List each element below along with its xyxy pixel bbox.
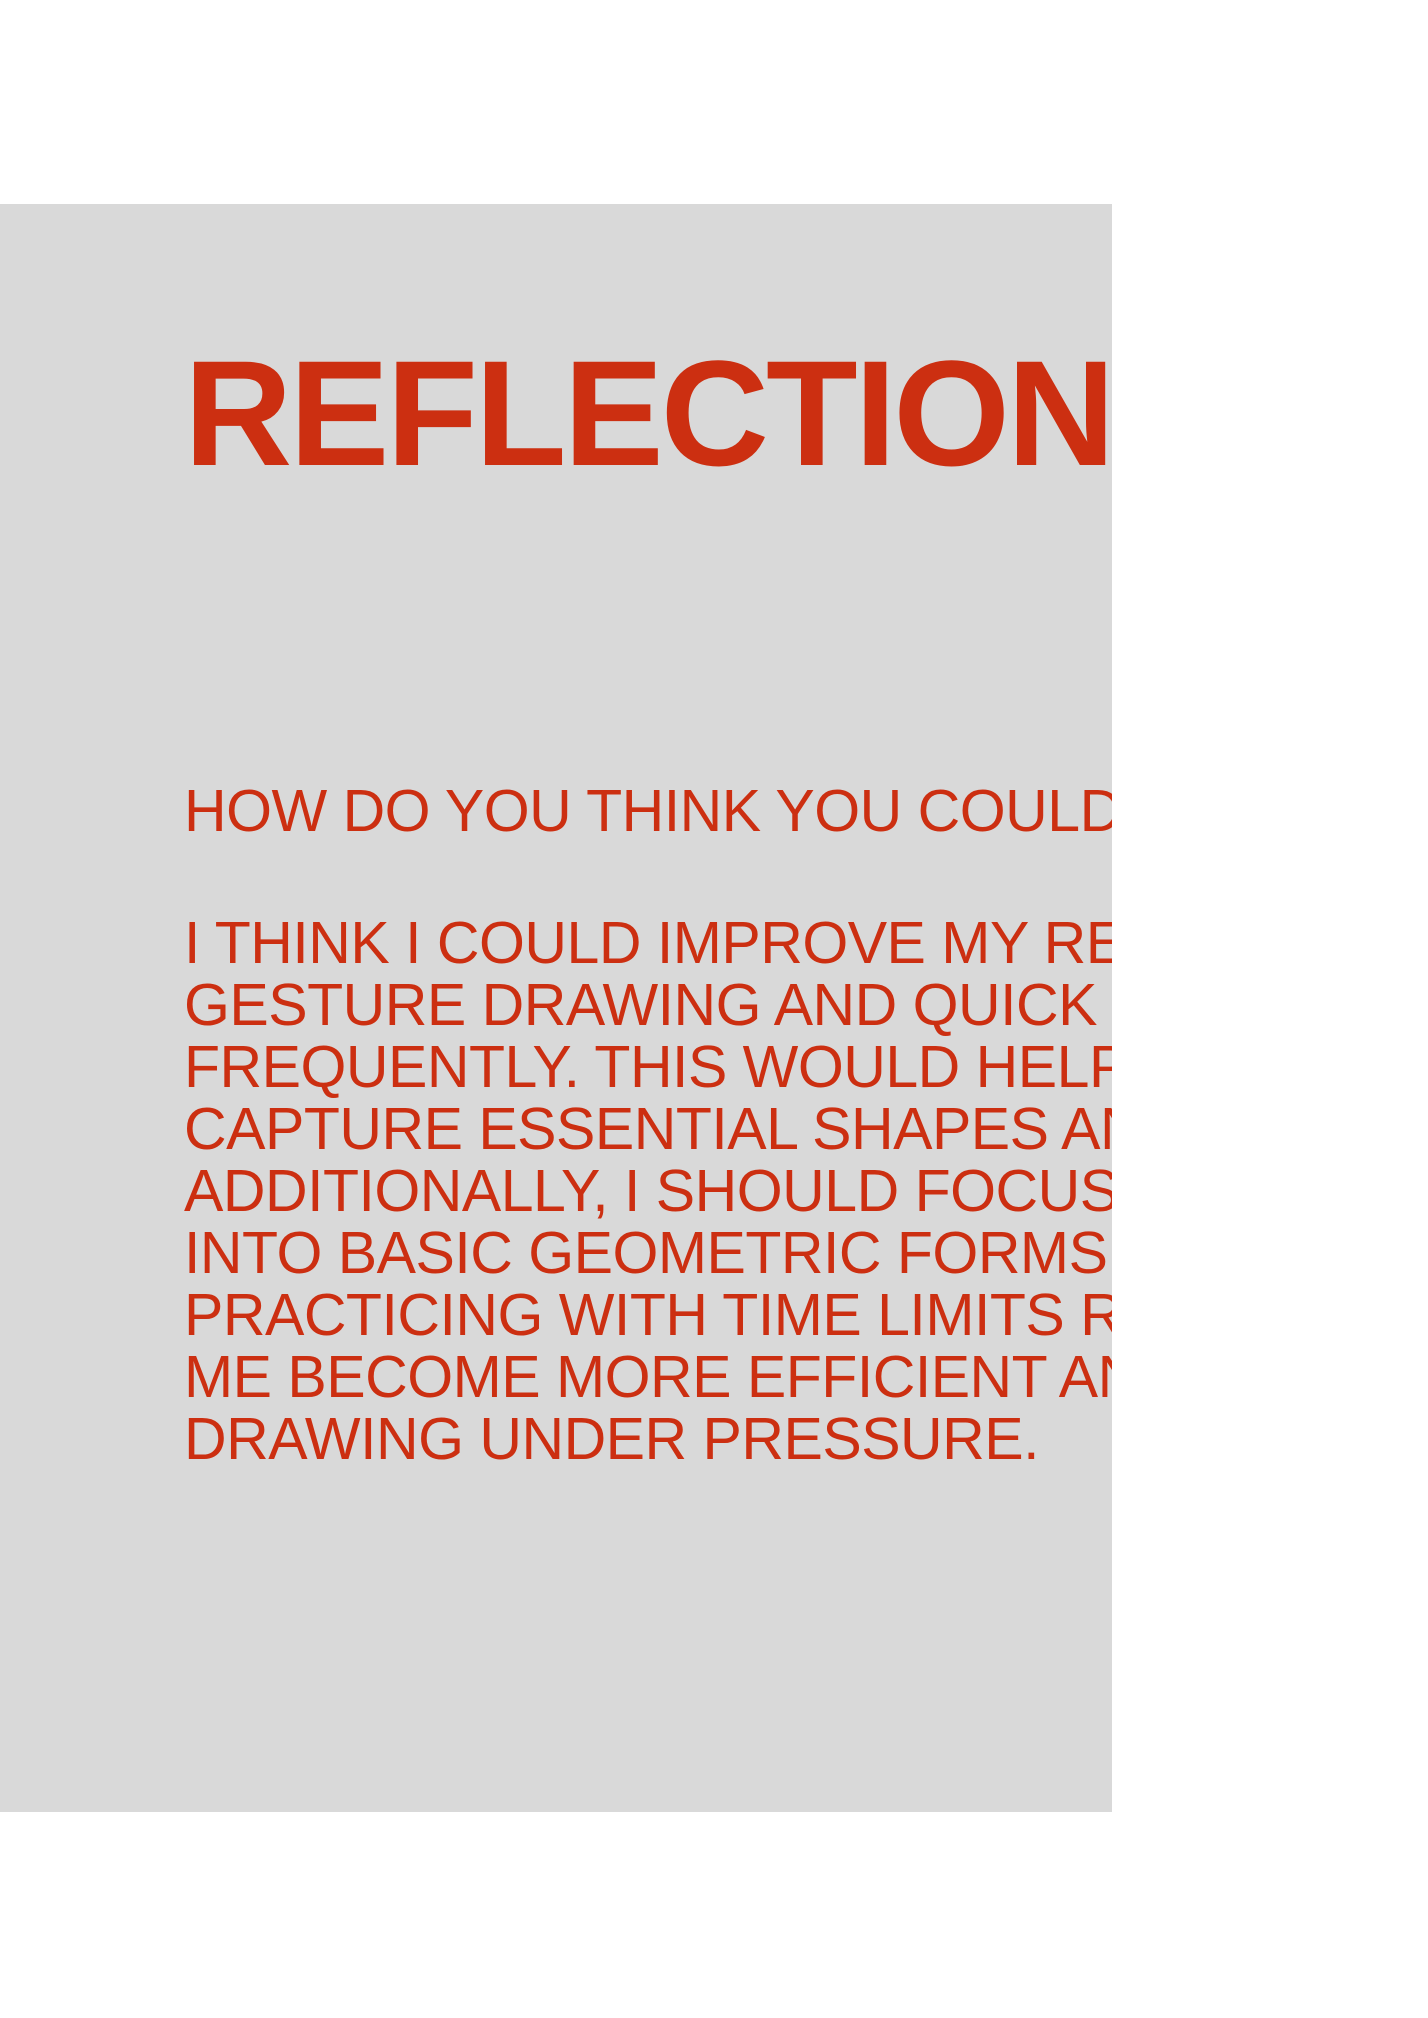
answer-line: DRAWING UNDER PRESSURE. <box>184 1408 1112 1470</box>
page-title: REFLECTION <box>184 338 1112 488</box>
answer-line: FREQUENTLY. THIS WOULD HELP <box>184 1036 1112 1098</box>
answer-line: GESTURE DRAWING AND QUICK S <box>184 974 1112 1036</box>
answer-line: ADDITIONALLY, I SHOULD FOCUS <box>184 1160 1112 1222</box>
slide-panel: REFLECTION HOW DO YOU THINK YOU COULD I … <box>0 204 1112 1812</box>
page-canvas: REFLECTION HOW DO YOU THINK YOU COULD I … <box>0 0 1428 2018</box>
answer-line: PRACTICING WITH TIME LIMITS R <box>184 1284 1112 1346</box>
answer-line: INTO BASIC GEOMETRIC FORMS <box>184 1222 1112 1284</box>
answer-line: I THINK I COULD IMPROVE MY RES <box>184 912 1112 974</box>
reflection-answer: I THINK I COULD IMPROVE MY RES GESTURE D… <box>184 912 1112 1470</box>
answer-line: CAPTURE ESSENTIAL SHAPES AN <box>184 1098 1112 1160</box>
reflection-question: HOW DO YOU THINK YOU COULD <box>184 782 1112 841</box>
answer-line: ME BECOME MORE EFFICIENT AN <box>184 1346 1112 1408</box>
